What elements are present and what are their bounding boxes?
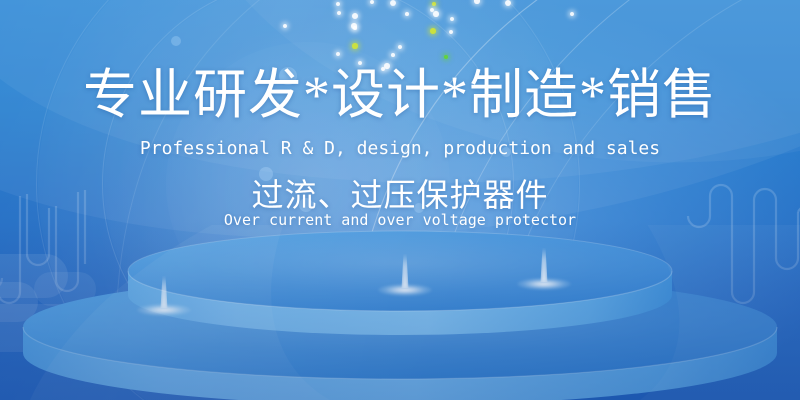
particle-dot (398, 45, 402, 49)
particle-dot (449, 30, 453, 34)
particle-dot (430, 28, 436, 34)
particle-dot (405, 12, 409, 16)
light-beam (375, 254, 435, 296)
beam-shaft (541, 248, 548, 282)
particle-dot (430, 8, 434, 12)
particle-dot (433, 11, 438, 16)
particle-dot (444, 55, 448, 59)
particle-dot (336, 52, 340, 56)
beam-pool (517, 278, 571, 290)
particle-dot (353, 26, 356, 29)
secondary-subtitle-english: Over current and over voltage protector (0, 213, 800, 228)
bottom-shade (0, 220, 800, 400)
particle-dot (337, 11, 342, 16)
beam-pool (378, 284, 432, 296)
beam-shaft (161, 276, 168, 308)
particle-dot (336, 2, 340, 6)
particle-dot (474, 0, 479, 4)
particle-dot (390, 0, 396, 6)
secondary-headline-chinese: 过流、过压保护器件 (0, 179, 800, 211)
light-beam (514, 248, 574, 290)
particle-dot (450, 17, 454, 21)
rounded-bracket-shape (0, 248, 122, 378)
particle-dot (432, 2, 436, 6)
two-tier-round-podium (0, 225, 800, 400)
particle-dot (352, 13, 358, 19)
particle-dot (570, 12, 574, 16)
particle-dot (352, 43, 357, 48)
headline-chinese: 专业研发*设计*制造*销售 (0, 68, 800, 122)
subtitle-english: Professional R & D, design, production a… (0, 140, 800, 158)
bubble-circle (171, 36, 181, 46)
promo-banner: 专业研发*设计*制造*销售 Professional R & D, design… (0, 0, 800, 400)
particle-dot (351, 23, 356, 28)
particle-dot (391, 53, 395, 57)
particle-dot (370, 0, 374, 4)
beam-shaft (402, 254, 409, 288)
beam-pool (137, 304, 191, 316)
particle-dot (505, 0, 512, 6)
light-beam (134, 276, 194, 316)
particle-dot (283, 24, 287, 28)
